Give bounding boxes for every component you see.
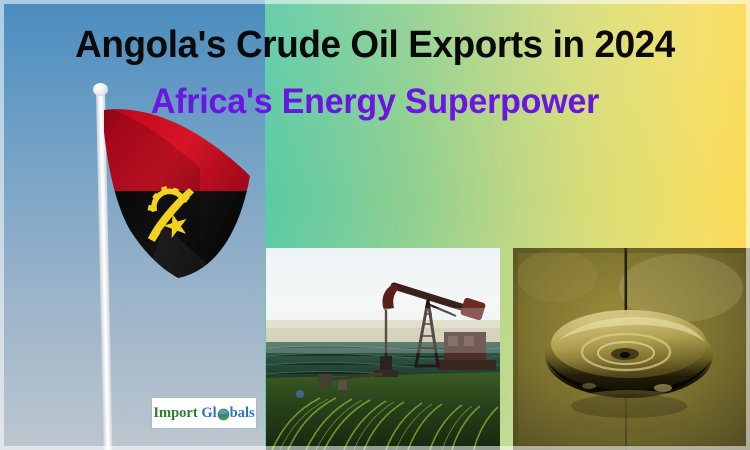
- logo-text: Import Gl bals: [153, 406, 254, 421]
- import-globals-logo[interactable]: Import Gl bals: [152, 398, 256, 428]
- logo-word-globals-suffix: bals: [230, 406, 255, 421]
- angola-crude-oil-banner: Angola's Crude Oil Exports in 2024 Afric…: [0, 0, 750, 450]
- logo-word-globals-prefix: Gl: [201, 406, 216, 421]
- globe-icon: [217, 408, 230, 421]
- headline-block: Angola's Crude Oil Exports in 2024 Afric…: [0, 26, 750, 121]
- page-title: Angola's Crude Oil Exports in 2024: [11, 26, 739, 66]
- logo-word-import: Import: [153, 406, 197, 421]
- oil-droplet-icon: [545, 310, 713, 398]
- angola-flag-svg: [104, 106, 254, 281]
- page-subtitle: Africa's Energy Superpower: [11, 84, 739, 121]
- oil-pumpjack-photo: [266, 248, 500, 450]
- crude-oil-droplet-svg: [513, 248, 750, 450]
- oil-pumpjack-svg: [266, 248, 500, 450]
- crude-oil-droplet-photo: [513, 248, 750, 450]
- angola-flag: [104, 106, 254, 281]
